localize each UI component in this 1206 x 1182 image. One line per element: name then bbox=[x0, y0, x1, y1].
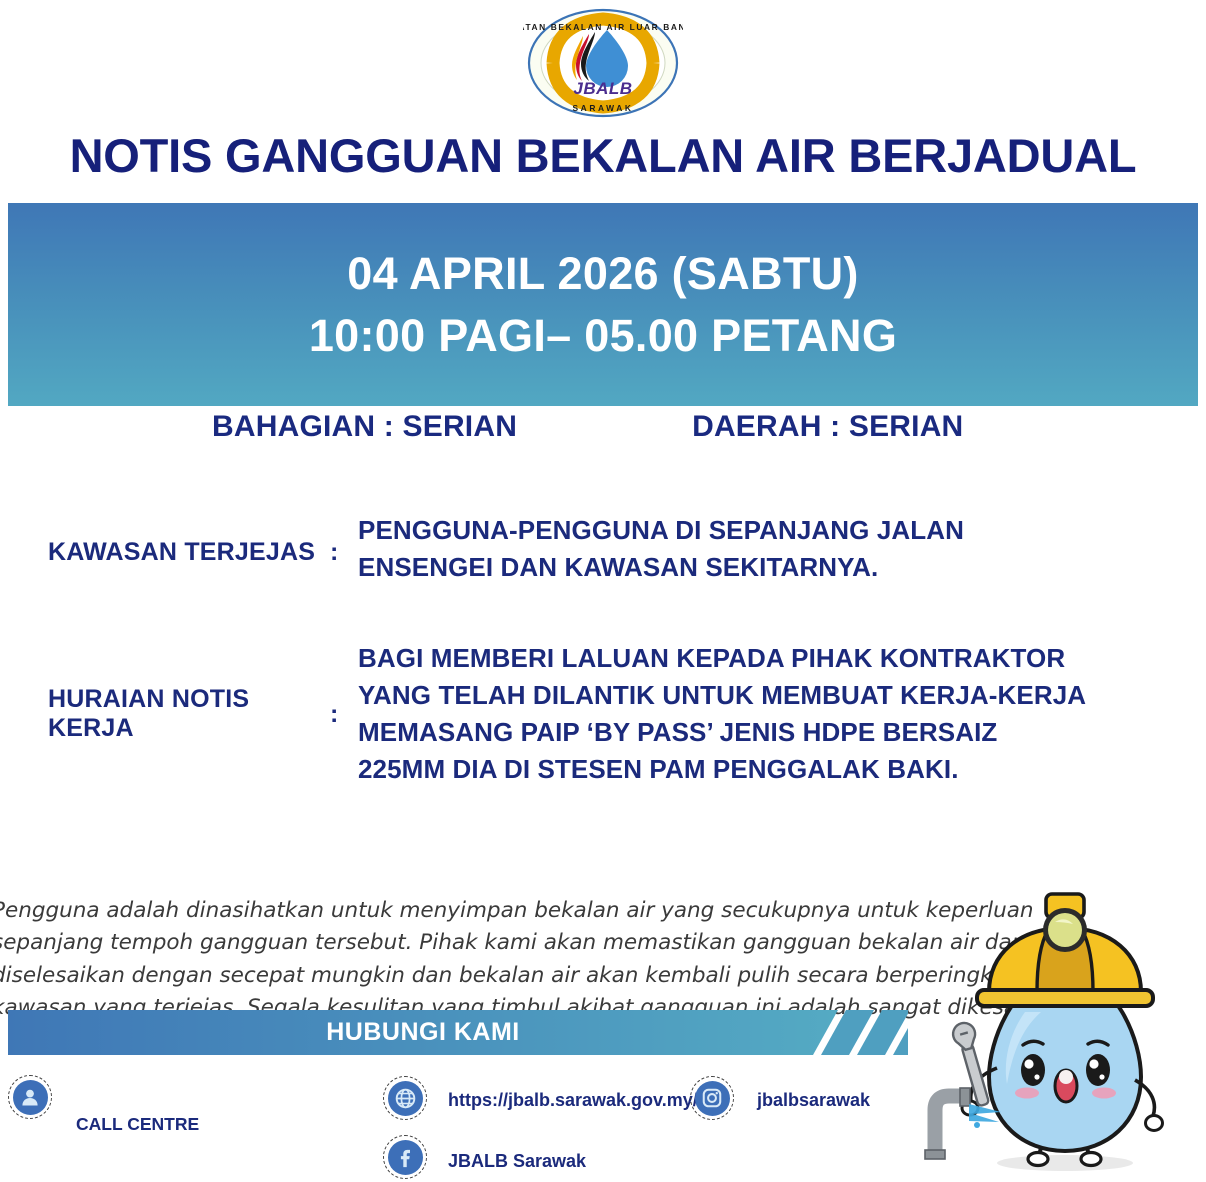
svg-text:JABATAN BEKALAN AIR LUAR BANDA: JABATAN BEKALAN AIR LUAR BANDAR bbox=[523, 22, 683, 32]
instagram-handle[interactable]: jbalbsarawak bbox=[757, 1090, 870, 1111]
person-glyph bbox=[19, 1086, 41, 1108]
water-droplet-mascot bbox=[905, 872, 1205, 1182]
website-link[interactable]: https://jbalb.sarawak.gov.my/ bbox=[448, 1090, 698, 1111]
banner-date: 04 APRIL 2026 (SABTU) bbox=[347, 245, 858, 303]
huraian-line-4: 225MM DIA DI STESEN PAM PENGGALAK BAKI. bbox=[358, 751, 1048, 788]
contacts-section: CALL CENTRE JBALB SARAWAK : 082-262211 J… bbox=[0, 1063, 900, 1182]
facebook-handle[interactable]: JBALB Sarawak bbox=[448, 1151, 586, 1172]
kawasan-line-1: PENGGUNA-PENGGUNA DI SEPANJANG JALAN bbox=[358, 512, 1048, 549]
instagram-icon[interactable] bbox=[690, 1076, 734, 1120]
kawasan-line-2: ENSENGEI DAN KAWASAN SEKITARNYA. bbox=[358, 549, 1048, 586]
huraian-line-2: YANG TELAH DILANTIK UNTUK MEMBUAT KERJA-… bbox=[358, 677, 1048, 714]
huraian-value: BAGI MEMBERI LALUAN KEPADA PIHAK KONTRAK… bbox=[358, 640, 1048, 788]
daerah-label: DAERAH : SERIAN bbox=[692, 410, 963, 444]
contact-banner-shape bbox=[8, 1010, 908, 1055]
note-line-3: diselesaikan dengan secepat mungkin dan … bbox=[0, 960, 852, 992]
contact-banner: HUBUNGI KAMI bbox=[8, 1010, 908, 1055]
note-line-2: sepanjang tempoh gangguan tersebut. Piha… bbox=[0, 927, 852, 959]
logo-container: JABATAN BEKALAN AIR LUAR BANDAR SARAWAK … bbox=[0, 8, 1206, 118]
kawasan-label: KAWASAN TERJEJAS bbox=[0, 512, 330, 592]
region-row: BAHAGIAN : SERIAN DAERAH : SERIAN bbox=[0, 410, 1206, 444]
kawasan-colon: : bbox=[330, 512, 358, 592]
row-kawasan-terjejas: KAWASAN TERJEJAS : PENGGUNA-PENGGUNA DI … bbox=[0, 512, 1048, 592]
kawasan-value: PENGGUNA-PENGGUNA DI SEPANJANG JALAN ENS… bbox=[358, 512, 1048, 592]
note-line-1: Pengguna adalah dinasihatkan untuk menyi… bbox=[0, 895, 852, 927]
jbalb-logo: JABATAN BEKALAN AIR LUAR BANDAR SARAWAK … bbox=[523, 8, 683, 118]
notice-poster: JABATAN BEKALAN AIR LUAR BANDAR SARAWAK … bbox=[0, 0, 1206, 1182]
facebook-icon[interactable] bbox=[383, 1135, 427, 1179]
huraian-colon: : bbox=[330, 640, 358, 788]
call-centre-heading: CALL CENTRE bbox=[76, 1113, 380, 1136]
huraian-label: HURAIAN NOTIS KERJA bbox=[0, 640, 330, 788]
person-icon bbox=[8, 1075, 52, 1119]
bahagian-label: BAHAGIAN : SERIAN bbox=[212, 410, 517, 444]
row-huraian-notis-kerja: HURAIAN NOTIS KERJA : BAGI MEMBERI LALUA… bbox=[0, 640, 1048, 788]
advisory-note: Pengguna adalah dinasihatkan untuk menyi… bbox=[0, 895, 852, 1024]
huraian-line-3: MEMASANG PAIP ‘BY PASS’ JENIS HDPE BERSA… bbox=[358, 714, 1048, 751]
huraian-line-1: BAGI MEMBERI LALUAN KEPADA PIHAK KONTRAK… bbox=[358, 640, 1048, 677]
instagram-glyph bbox=[701, 1087, 723, 1109]
mascot-illustration bbox=[905, 872, 1205, 1182]
banner-time: 10:00 PAGI– 05.00 PETANG bbox=[309, 307, 897, 365]
globe-icon[interactable] bbox=[383, 1076, 427, 1120]
facebook-glyph bbox=[394, 1146, 417, 1169]
svg-text:JBALB: JBALB bbox=[573, 79, 632, 98]
date-banner: 04 APRIL 2026 (SABTU) 10:00 PAGI– 05.00 … bbox=[8, 203, 1198, 406]
page-title: NOTIS GANGGUAN BEKALAN AIR BERJADUAL bbox=[0, 128, 1206, 183]
call-centre-block: CALL CENTRE JBALB SARAWAK : 082-262211 J… bbox=[76, 1066, 380, 1182]
svg-text:SARAWAK: SARAWAK bbox=[572, 103, 633, 113]
globe-glyph bbox=[394, 1087, 417, 1110]
